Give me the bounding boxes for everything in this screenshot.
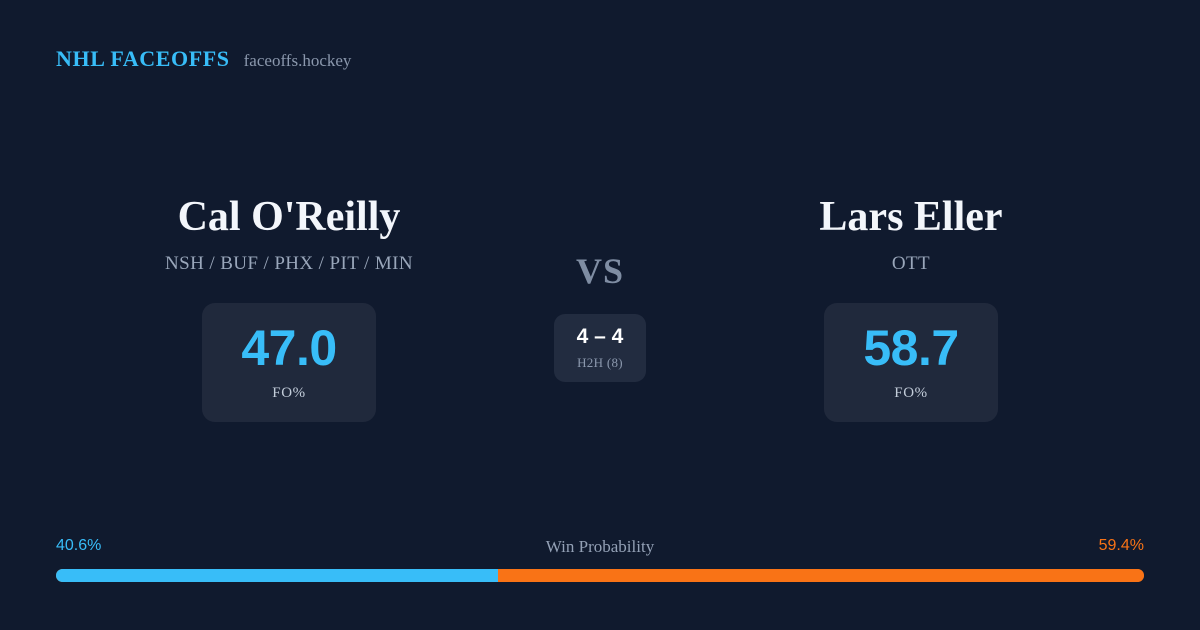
win-probability-bar (56, 569, 1144, 582)
win-probability-bar-right (498, 569, 1144, 582)
vs-label: VS (576, 253, 624, 289)
player-name-left: Cal O'Reilly (178, 195, 401, 239)
site-header: NHL FACEOFFS faceoffs.hockey (56, 46, 351, 72)
player-card-left[interactable]: Cal O'Reilly NSH / BUF / PHX / PIT / MIN… (69, 195, 509, 422)
h2h-badge: 4 – 4 H2H (8) (554, 314, 646, 382)
win-probability-right-value: 59.4% (1099, 537, 1144, 555)
player-teams-right: OTT (892, 253, 930, 275)
win-probability-labels: 40.6% Win Probability 59.4% (56, 537, 1144, 559)
brand-domain: faceoffs.hockey (244, 51, 352, 71)
brand-title: NHL FACEOFFS (56, 46, 230, 72)
stat-label-left: FO% (272, 385, 305, 402)
h2h-record: 4 – 4 (577, 326, 624, 347)
player-name-right: Lars Eller (819, 195, 1002, 239)
stat-label-right: FO% (894, 385, 927, 402)
win-probability-title: Win Probability (56, 537, 1144, 557)
win-probability-bar-left (56, 569, 498, 582)
stat-card-right: 58.7 FO% (824, 303, 998, 422)
stat-value-right: 58.7 (863, 323, 958, 373)
h2h-label: H2H (8) (577, 355, 623, 371)
win-probability-section: 40.6% Win Probability 59.4% (56, 537, 1144, 582)
matchup-center: VS 4 – 4 H2H (8) (500, 195, 700, 382)
stat-card-left: 47.0 FO% (202, 303, 376, 422)
matchup-section: Cal O'Reilly NSH / BUF / PHX / PIT / MIN… (0, 195, 1200, 435)
player-card-right[interactable]: Lars Eller OTT 58.7 FO% (691, 195, 1131, 422)
stat-value-left: 47.0 (241, 323, 336, 373)
player-teams-left: NSH / BUF / PHX / PIT / MIN (165, 253, 413, 275)
